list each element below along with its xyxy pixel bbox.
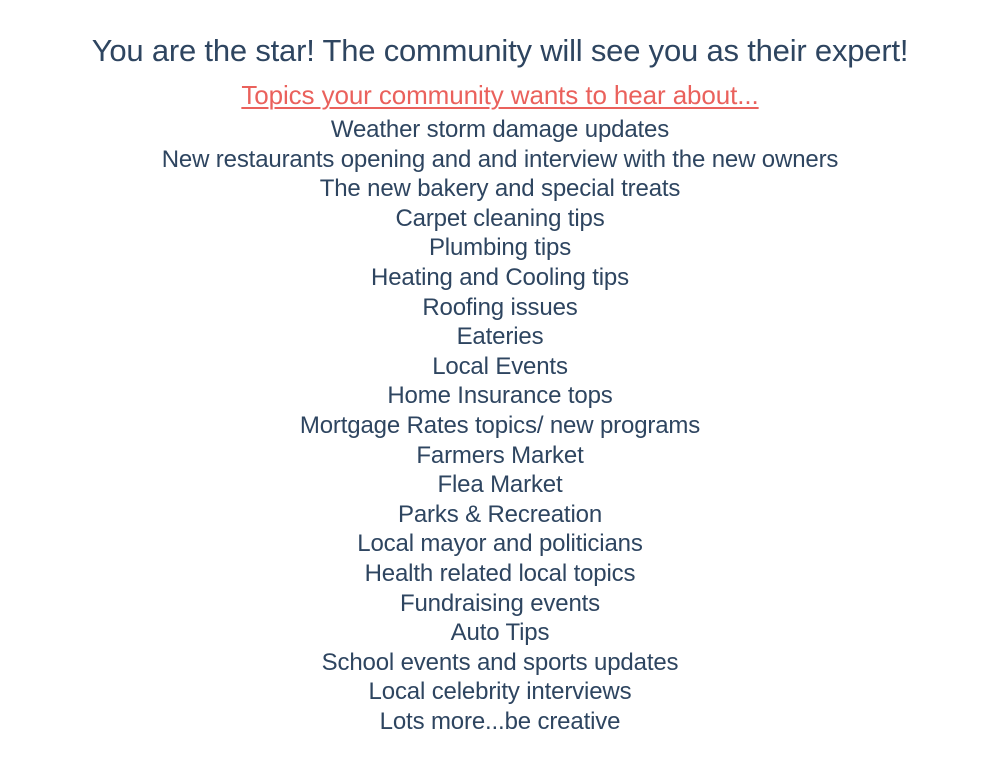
list-item: Local celebrity interviews: [0, 677, 1000, 707]
list-item: Carpet cleaning tips: [0, 204, 1000, 234]
list-item: Lots more...be creative: [0, 707, 1000, 737]
topics-list: Weather storm damage updatesNew restaura…: [0, 115, 1000, 736]
topics-section-heading: Topics your community wants to hear abou…: [241, 80, 758, 111]
list-item: Flea Market: [0, 470, 1000, 500]
list-item: Parks & Recreation: [0, 500, 1000, 530]
list-item: Roofing issues: [0, 293, 1000, 323]
list-item: Farmers Market: [0, 441, 1000, 471]
page-title: You are the star! The community will see…: [0, 31, 1000, 71]
list-item: Heating and Cooling tips: [0, 263, 1000, 293]
list-item: Plumbing tips: [0, 233, 1000, 263]
topics-section: Topics your community wants to hear abou…: [0, 80, 1000, 736]
list-item: Eateries: [0, 322, 1000, 352]
list-item: Fundraising events: [0, 589, 1000, 619]
slide-canvas: You are the star! The community will see…: [0, 0, 1000, 758]
list-item: Local Events: [0, 352, 1000, 382]
list-item: New restaurants opening and and intervie…: [0, 145, 1000, 175]
list-item: Local mayor and politicians: [0, 529, 1000, 559]
list-item: The new bakery and special treats: [0, 174, 1000, 204]
list-item: Auto Tips: [0, 618, 1000, 648]
list-item: Weather storm damage updates: [0, 115, 1000, 145]
list-item: Mortgage Rates topics/ new programs: [0, 411, 1000, 441]
list-item: Health related local topics: [0, 559, 1000, 589]
list-item: School events and sports updates: [0, 648, 1000, 678]
list-item: Home Insurance tops: [0, 381, 1000, 411]
